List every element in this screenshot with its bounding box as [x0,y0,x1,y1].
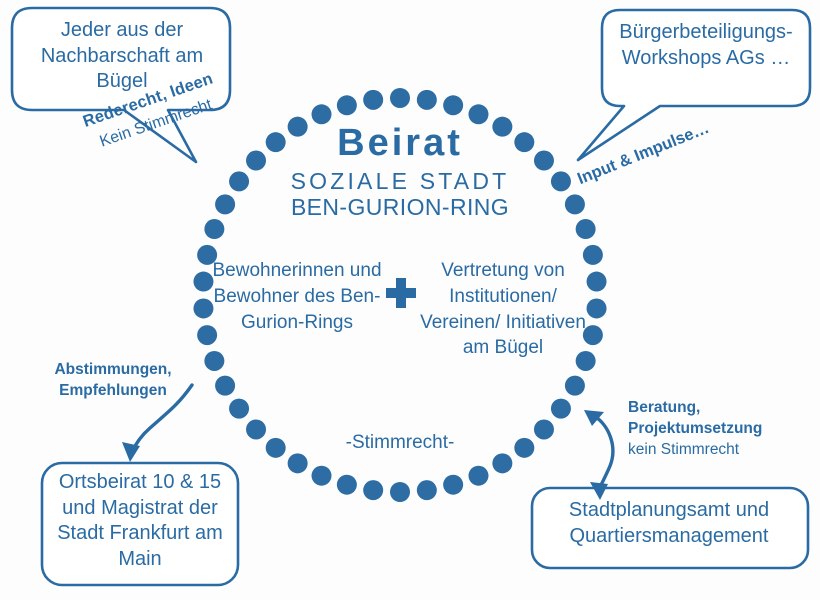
ring-dot [204,219,224,239]
ring-dot [266,438,286,458]
ring-dot [534,151,554,171]
ring-dot [443,475,463,495]
bubble-top-left-shape [12,8,230,162]
ring-dot [514,132,534,152]
ring-dot [363,480,383,500]
box-bottom-right-shape [532,488,808,568]
ring-dot [312,466,332,486]
ring-dot [337,95,357,115]
ring-dot [229,171,249,191]
ring-dot [390,482,410,502]
ring-dot [215,376,235,396]
ring-dot [193,272,213,292]
ring-dot [288,453,308,473]
box-bottom-left-shape [42,463,238,585]
ring-dot [204,351,224,371]
ring-dot [534,419,554,439]
ring-dot [565,194,585,214]
ring-dot [583,245,603,265]
ring-dot [197,325,217,345]
ring-dot [246,419,266,439]
diagram-vector-layer [0,0,820,600]
ring-dot [492,117,512,137]
ring-dot [266,132,286,152]
ring-dot [417,480,437,500]
ring-dot [565,376,585,396]
voting-rights-label: -Stimmrecht- [290,432,510,454]
ring-dot [587,298,607,318]
ring-dot [193,298,213,318]
ring-dot [583,325,603,345]
ring-dot [587,272,607,292]
ring-dot [468,466,488,486]
ring-dot [492,453,512,473]
ring-dot [197,245,217,265]
ring-dot [337,475,357,495]
ring-dot [363,90,383,110]
ring-dot [468,104,488,124]
ring-dot [514,438,534,458]
ring-dot [312,104,332,124]
ring-dot [443,95,463,115]
arrow-abstimmungen [132,385,192,452]
ring-dot [551,171,571,191]
ring-dot [417,90,437,110]
ring-dot [215,194,235,214]
ring-dot [229,399,249,419]
ring-dot [576,219,596,239]
ring-dot [390,88,410,108]
diagram-canvas: Jeder aus der Nachbarschaft am Bügel Bür… [0,0,820,600]
ring-dot [551,399,571,419]
bubble-top-right-shape [578,10,810,160]
arrow-beratung [594,416,613,492]
ring-dot [576,351,596,371]
ring-dot [246,151,266,171]
ring-dot [288,117,308,137]
plus-icon [386,278,416,308]
